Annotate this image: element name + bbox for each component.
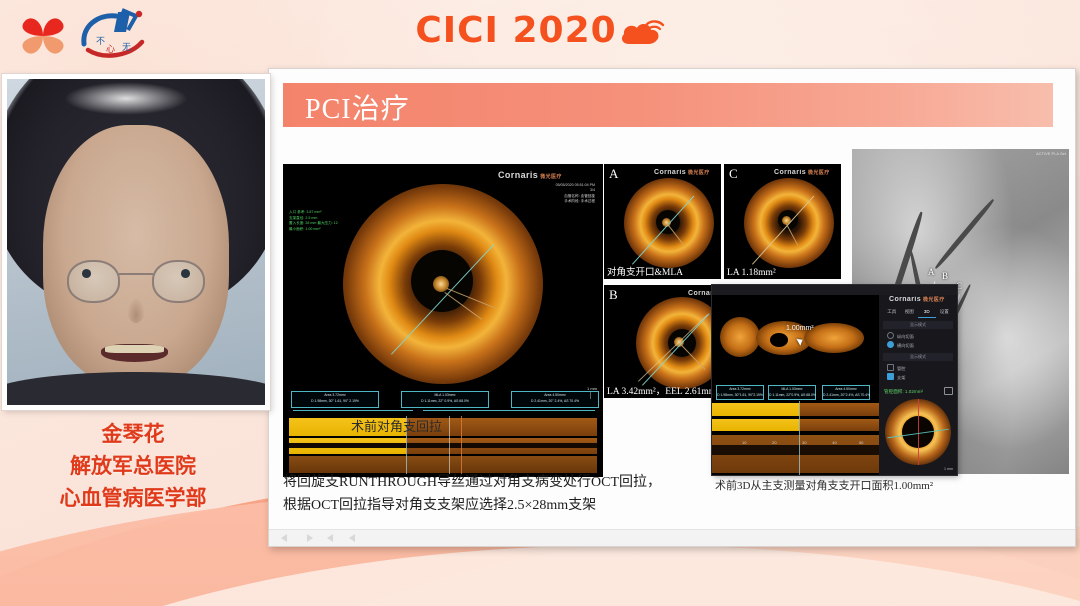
3d-marker-line (799, 401, 800, 475)
cloud-wifi-icon (619, 16, 665, 48)
presenter-video-frame (7, 79, 265, 405)
panel-a-caption: 对角支开口&MLA (607, 264, 683, 278)
presenter-face (43, 125, 229, 386)
3d-option-stent[interactable]: 支架 (887, 373, 905, 381)
panel-letter-c: C (729, 166, 738, 182)
eyeglasses-left-lens (67, 260, 119, 303)
prev-slide-icon[interactable] (281, 534, 291, 542)
oct-measure-box-1[interactable]: Area 3.72mm²D 1.98mm, 30° 1.61, 90° 2.19… (291, 391, 379, 408)
3d-option-transverse[interactable]: 横向切面 (887, 341, 914, 349)
angio-label-b: B (942, 271, 948, 281)
panel-letter-b: B (609, 287, 618, 303)
presenter-nose (127, 297, 146, 323)
panel-c-caption: LA 1.18mm² (727, 268, 776, 278)
3d-measure-box-2[interactable]: MLA 1.03mm²D 1.11mm, 22°0.9%, AS 68.0% (768, 385, 816, 400)
3d-window-sidebar[interactable]: Cornaris微光医疗 工具 视图 3D 设置 显示模式 纵向切面 横向切面 … (879, 295, 957, 475)
speaker-department: 心血管病医学部 (0, 482, 266, 514)
3d-sidebar-tabs[interactable]: 工具 视图 3D 设置 (883, 307, 953, 317)
oct-measure-box-3[interactable]: Area 4.50mm²D 2.41mm, 20° 2.4%, AS 70.4% (511, 391, 599, 408)
cornaris-logo-a: Cornaris微光医疗 (654, 169, 710, 176)
oct-3d-window[interactable]: 1.00mm² Area 3.72mm²D 1.98mm, 30°1.61, 9… (712, 285, 957, 475)
3d-section-label-2: 显示模式 (883, 353, 953, 361)
conference-title: CICI 2020 (0, 10, 1080, 51)
slide-footer-toolbar[interactable] (269, 529, 1075, 546)
3d-vessel-bottom (799, 419, 879, 431)
presentation-slide[interactable]: PCI治疗 Cornaris微光医疗 05/05/2020 05:51:04 P… (268, 68, 1076, 547)
3d-cross-section-view (885, 399, 951, 465)
cornaris-logo-3d: Cornaris微光医疗 (889, 296, 945, 303)
angio-corner-text: ACTIVE PLA Set (1036, 151, 1066, 156)
eyeglasses-right-lens (152, 260, 204, 303)
checkbox-checked-icon[interactable] (887, 373, 894, 380)
3d-area-measure: 1.00mm² (786, 325, 814, 332)
slide-title-text: PCI治疗 (283, 83, 1053, 127)
oct-ruler-1 (293, 410, 413, 411)
pen-tool-icon[interactable] (327, 534, 337, 542)
radio-unselected-icon[interactable] (887, 332, 894, 339)
hair-highlight (64, 82, 188, 115)
3d-area-tag: 管腔面积: 1.02mm² (884, 389, 923, 395)
3d-stent-band-bottom (712, 419, 799, 431)
page-header: 不 心 无 CICI 2020 (0, 0, 1080, 68)
slide-body-line-1: 将回旋支RUNTHROUGH导丝通过对角支病变处行OCT回拉， (283, 471, 703, 494)
screen-tool-icon[interactable] (349, 534, 359, 542)
presenter-teeth (105, 345, 164, 353)
xsec-scale-label: 1 mm (944, 467, 953, 471)
presenter-shoulders (7, 372, 265, 405)
panel-b-caption: LA 3.42mm²，EEL 2.61mm (607, 383, 716, 397)
3d-measure-box-1[interactable]: Area 3.72mm²D 1.98mm, 30°1.61, 90°2.19% (716, 385, 764, 400)
pullback-marker-c (461, 416, 462, 474)
slide-title-bar: PCI治疗 (283, 83, 1053, 127)
3d-ruler: 10 20 30 40 50 (712, 440, 879, 447)
cornaris-logo-main: Cornaris微光医疗 (498, 170, 562, 180)
3d-tab-3d[interactable]: 3D (918, 307, 936, 318)
3d-tab-view[interactable]: 视图 (901, 307, 919, 317)
presenter-eye-right (181, 269, 190, 278)
conference-title-text: CICI 2020 (415, 10, 616, 51)
3d-vessel-top (799, 403, 879, 416)
oct-longitudinal-pullback[interactable] (289, 416, 597, 474)
speaker-name: 金琴花 (0, 418, 266, 450)
3d-window-titlebar[interactable] (712, 285, 957, 295)
slide-body-line-2: 根据OCT回拉指导对角支支架应选择2.5×28mm支架 (283, 494, 703, 517)
caption-right: 术前3D从主支测量对角支支开口面积1.00mm² (715, 477, 933, 493)
next-slide-icon[interactable] (303, 534, 313, 542)
oct-measure-box-2[interactable]: MLA 1.03mm²D 1.11mm, 22° 0.9%, AS 68.0% (401, 391, 489, 408)
3d-lumen-render: 1.00mm² (712, 295, 879, 381)
3d-stent-band-top (712, 403, 799, 416)
eyeglasses-bridge (119, 273, 152, 275)
pullback-lumen-gap (289, 443, 597, 448)
radio-selected-icon[interactable] (887, 341, 894, 348)
3d-tab-settings[interactable]: 设置 (936, 307, 954, 317)
slide-body-text: 将回旋支RUNTHROUGH导丝通过对角支病变处行OCT回拉， 根据OCT回拉指… (283, 471, 703, 517)
oct-main-image[interactable]: Cornaris微光医疗 05/05/2020 05:51:04 PM 3/4 … (283, 164, 603, 477)
angio-label-a: A (928, 267, 935, 277)
checkbox-unchecked-icon[interactable] (887, 364, 894, 371)
speaker-hospital: 解放军总医院 (0, 450, 266, 482)
3d-window-main[interactable]: 1.00mm² Area 3.72mm²D 1.98mm, 30°1.61, 9… (712, 295, 879, 475)
3d-option-lumen[interactable]: 管腔 (887, 364, 905, 372)
oct-stats: 入口 参考: 3.87 mm² 支架直径: 2.5 mm 置入长度: 28 mm… (289, 210, 338, 232)
pullback-marker-b (449, 416, 450, 474)
3d-measure-box-3[interactable]: Area 4.50mm²D 2.41mm, 20°2.4%, AS 70.4% (822, 385, 870, 400)
oct-header-info: 05/05/2020 05:51:04 PM 3/4 血管名称: 血管回旋 手术… (556, 183, 595, 205)
oct-panel-c[interactable]: Cornaris微光医疗 C LA 1.18mm² (724, 164, 841, 279)
panel-letter-a: A (609, 166, 618, 182)
cornaris-logo-c: Cornaris微光医疗 (774, 169, 830, 176)
presenter-video-panel[interactable] (2, 74, 270, 410)
caption-left: 术前对角支回拉 (351, 416, 442, 435)
3d-tab-tools[interactable]: 工具 (883, 307, 901, 317)
oct-panel-a[interactable]: Cornaris微光医疗 A 对角支开口&MLA (604, 164, 721, 279)
presenter-mouth (101, 344, 168, 362)
3d-option-longitudinal[interactable]: 纵向切面 (887, 332, 914, 340)
3d-ostium-hole (770, 333, 788, 347)
speaker-info: 金琴花 解放军总医院 心血管病医学部 (0, 418, 266, 514)
oct-catheter (433, 276, 449, 292)
camera-icon[interactable] (944, 387, 953, 395)
3d-section-label-1: 显示模式 (883, 321, 953, 329)
oct-ruler-2 (423, 410, 595, 411)
